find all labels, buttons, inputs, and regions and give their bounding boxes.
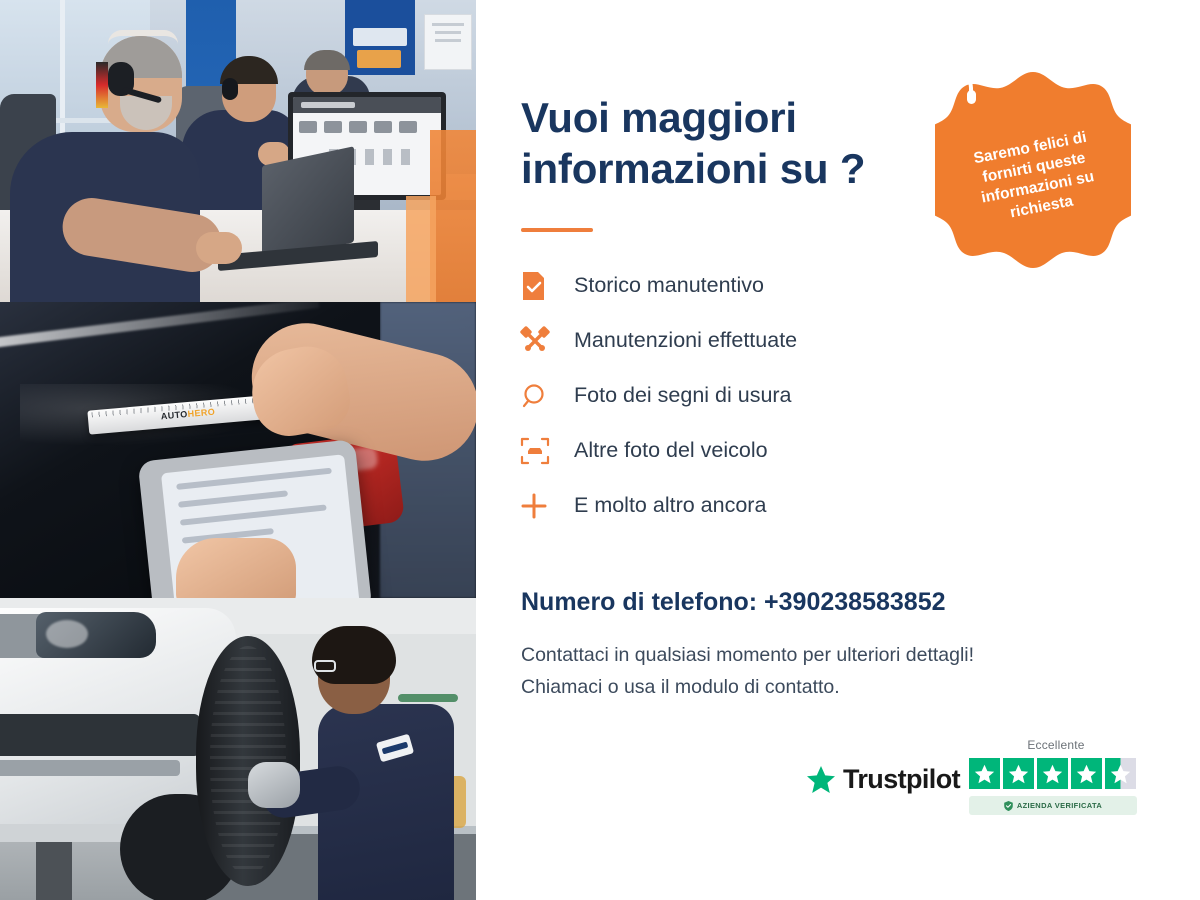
orange-equipment [430,130,476,302]
feature-item-manutenzioni: Manutenzioni effettuate [520,313,940,368]
car-lower-bumper [0,714,200,756]
feature-label: Storico manutentivo [574,273,764,298]
car-headlight [36,612,156,658]
contact-description-line-1: Contattaci in qualsiasi momento per ulte… [521,640,1141,672]
car-bumper-trim [0,760,180,776]
wall-poster [345,0,415,75]
star-filled [969,758,1000,789]
photo-column: AUTOHERO [0,0,476,900]
trustpilot-logo[interactable]: Trustpilot [806,764,960,795]
verified-company-badge: AZIENDA VERIFICATA [969,796,1137,815]
contact-description-line-2: Chiamaci o usa il modulo di contatto. [521,672,1141,704]
feature-label: E molto altro ancora [574,493,766,518]
magnifier-icon [520,382,574,410]
trustpilot-rating-label: Eccellente [971,738,1141,752]
front-tyre [196,636,300,886]
feature-label: Manutenzioni effettuate [574,328,797,353]
decor-flag [96,62,108,108]
contact-description: Contattaci in qualsiasi momento per ulte… [521,640,1141,703]
feature-item-foto-usura: Foto dei segni di usura [520,368,940,423]
headset-icon [935,68,979,108]
star-filled [1003,758,1034,789]
feature-label: Foto dei segni di usura [574,383,792,408]
orange-equipment [406,196,436,302]
tools-wrench-screwdriver-icon [520,326,574,356]
trustpilot-star-icon [806,765,836,794]
shelf-item-green [398,694,458,702]
agent-one-hand [196,232,242,264]
feature-label: Altre foto del veicolo [574,438,768,463]
mechanic-hair [312,626,396,684]
vehicle-inspection-photo: AUTOHERO [0,302,476,598]
content-column: Vuoi maggiori informazioni su ? Saremo f… [476,0,1200,900]
car-scan-icon [520,436,574,466]
feature-item-altre-foto: Altre foto del veicolo [520,423,940,478]
feature-list: Storico manutentivo Manutenzioni effettu… [520,258,940,533]
workshop-wheel-check-photo [0,598,476,900]
agent-one-headset-band [108,30,178,44]
callout-badge: Saremo felici di fornirti queste informa… [935,68,1131,298]
shield-check-icon [1004,801,1013,811]
ruler-brand-text: AUTOHERO [160,407,215,422]
page-title-line-2: informazioni su ? [521,143,951,194]
page-title: Vuoi maggiori informazioni su ? [521,92,951,194]
star-half [1105,758,1136,789]
title-underline-rule [521,228,593,232]
verified-company-label: AZIENDA VERIFICATA [1017,801,1102,810]
document-check-icon [520,270,574,302]
call-center-agents-photo [0,0,476,302]
agent-three-hair [304,50,350,70]
wall-document [424,14,472,70]
plus-icon [520,492,574,520]
star-filled [1037,758,1068,789]
page-title-line-1: Vuoi maggiori [521,92,951,143]
agent-two-headset [222,78,238,100]
feature-item-altro: E molto altro ancora [520,478,940,533]
car-lift-post [36,842,72,900]
trustpilot-widget[interactable]: Trustpilot Eccellente [806,736,1166,846]
mechanic-glove [248,762,300,808]
phone-number-label: Numero di telefono: +390238583852 [521,588,946,617]
safety-glasses-icon [314,660,336,672]
star-filled [1071,758,1102,789]
trustpilot-wordmark: Trustpilot [843,764,960,795]
trustpilot-star-rating [969,758,1136,789]
promo-page: AUTOHERO [0,0,1200,900]
feature-item-storico: Storico manutentivo [520,258,940,313]
inspector-hand-holding-tablet [176,538,296,598]
